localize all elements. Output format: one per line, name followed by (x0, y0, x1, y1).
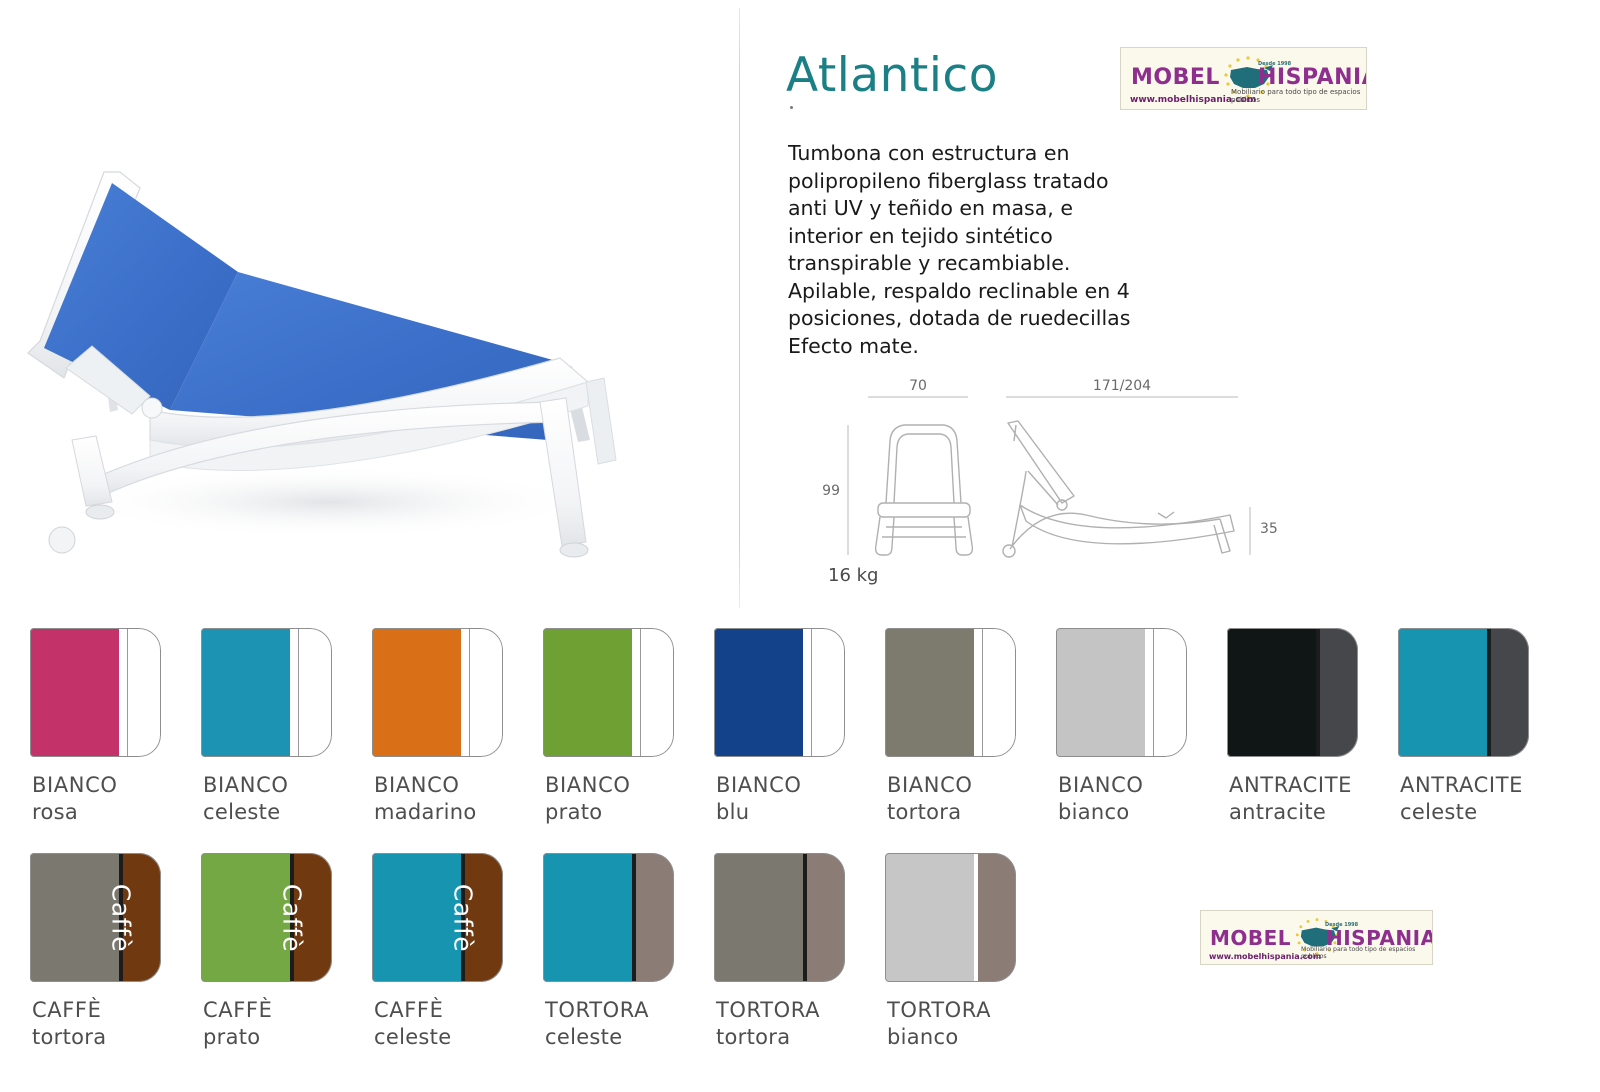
swatch-antracite-celeste[interactable]: ANTRACITEceleste (1398, 628, 1558, 826)
swatch-frame-edge-line (982, 628, 983, 757)
swatch-frame-edge-line (298, 628, 299, 757)
swatch-separator (290, 628, 294, 757)
swatch-bianco-rosa[interactable]: BIANCOrosa (30, 628, 190, 826)
swatch-fabric-name: bianco (887, 1024, 1045, 1051)
swatch-chip[interactable] (543, 628, 674, 757)
swatch-chip[interactable] (714, 628, 845, 757)
swatch-caff-tortora[interactable]: CaffèCAFFÈtortora (30, 853, 190, 1051)
swatch-fabric-name: celeste (374, 1024, 532, 1051)
weight-label: 16 kg (828, 565, 878, 586)
swatch-separator (632, 853, 636, 982)
swatch-fabric-area (1398, 628, 1487, 757)
swatch-fabric-area (543, 853, 632, 982)
swatch-fabric-name: celeste (203, 799, 361, 826)
swatch-chip[interactable] (543, 853, 674, 982)
swatch-fabric-area (1056, 628, 1145, 757)
swatch-row-1: BIANCOrosaBIANCOcelesteBIANCOmadarinoBIA… (0, 620, 1600, 845)
swatch-chip[interactable] (30, 628, 161, 757)
swatch-chip[interactable] (1398, 628, 1529, 757)
swatch-frame-edge-line (469, 628, 470, 757)
swatch-frame-name: TORTORA (887, 997, 1045, 1024)
swatch-fabric-name: prato (203, 1024, 361, 1051)
swatch-fabric-name: blu (716, 799, 874, 826)
swatch-chip[interactable] (714, 853, 845, 982)
swatch-fabric-name: celeste (1400, 799, 1558, 826)
swatch-row-2: CaffèCAFFÈtortoraCaffèCAFFÈpratoCaffèCAF… (0, 845, 1600, 1070)
swatch-frame-area (1487, 628, 1529, 757)
dim-width-value: 70 (909, 378, 927, 394)
product-photo (0, 110, 680, 580)
swatch-fabric-name: tortora (32, 1024, 190, 1051)
swatch-bianco-bianco[interactable]: BIANCObianco (1056, 628, 1216, 826)
dim-length-value: 171/204 (1093, 378, 1151, 394)
swatch-label: BIANCOtortora (885, 772, 1045, 826)
swatch-caffe-badge: Caffè (277, 883, 306, 951)
swatch-frame-edge-line (127, 628, 128, 757)
swatch-label: BIANCObianco (1056, 772, 1216, 826)
swatch-chip[interactable] (885, 853, 1016, 982)
swatch-chip[interactable]: Caffè (201, 853, 332, 982)
swatch-frame-name: BIANCO (374, 772, 532, 799)
swatch-chip[interactable] (1056, 628, 1187, 757)
swatch-chip[interactable] (372, 628, 503, 757)
swatch-bianco-tortora[interactable]: BIANCOtortora (885, 628, 1045, 826)
swatch-fabric-area (1227, 628, 1316, 757)
swatch-fabric-area (714, 853, 803, 982)
swatch-caffe-badge: Caffè (448, 883, 477, 951)
swatch-frame-name: ANTRACITE (1400, 772, 1558, 799)
swatch-fabric-area (714, 628, 803, 757)
swatch-bianco-prato[interactable]: BIANCOprato (543, 628, 703, 826)
swatch-separator (1145, 628, 1149, 757)
swatch-fabric-area (885, 853, 974, 982)
swatch-frame-name: CAFFÈ (32, 997, 190, 1024)
dim-seat-height-value: 35 (1260, 521, 1278, 537)
swatch-chip[interactable] (1227, 628, 1358, 757)
swatch-separator (803, 853, 807, 982)
swatch-tortora-celeste[interactable]: TORTORAceleste (543, 853, 703, 1051)
swatch-frame-area (632, 628, 674, 757)
swatch-fabric-name: madarino (374, 799, 532, 826)
swatch-separator (803, 628, 807, 757)
swatch-label: ANTRACITEantracite (1227, 772, 1387, 826)
swatch-fabric-area (30, 628, 119, 757)
swatch-label: CAFFÈceleste (372, 997, 532, 1051)
swatch-bianco-madarino[interactable]: BIANCOmadarino (372, 628, 532, 826)
swatch-frame-name: CAFFÈ (203, 997, 361, 1024)
logo-brand-left: MOBEL (1131, 65, 1220, 90)
swatch-fabric-area (543, 628, 632, 757)
swatch-frame-area (1145, 628, 1187, 757)
swatch-fabric-name: bianco (1058, 799, 1216, 826)
swatch-frame-name: ANTRACITE (1229, 772, 1387, 799)
swatch-frame-area (290, 628, 332, 757)
swatch-frame-name: BIANCO (887, 772, 1045, 799)
swatch-frame-area (1316, 628, 1358, 757)
logo-brand-right: HISPANIA (1258, 65, 1367, 90)
swatch-frame-edge-line (1153, 628, 1154, 757)
column-divider (739, 8, 740, 608)
product-description: Tumbona con estructura en polipropileno … (788, 140, 1136, 360)
swatch-frame-name: BIANCO (716, 772, 874, 799)
swatch-label: CAFFÈprato (201, 997, 361, 1051)
swatch-frame-edge-line (640, 628, 641, 757)
swatch-chip[interactable] (201, 628, 332, 757)
swatch-separator (974, 628, 978, 757)
swatch-fabric-name: celeste (545, 1024, 703, 1051)
swatch-label: TORTORAbianco (885, 997, 1045, 1051)
swatch-label: TORTORAceleste (543, 997, 703, 1051)
title-dot (790, 106, 793, 109)
swatch-frame-name: BIANCO (1058, 772, 1216, 799)
swatch-frame-edge-line (811, 628, 812, 757)
swatch-fabric-name: tortora (716, 1024, 874, 1051)
swatch-frame-area (803, 853, 845, 982)
swatch-chip[interactable]: Caffè (30, 853, 161, 982)
swatch-fabric-name: tortora (887, 799, 1045, 826)
swatch-label: BIANCOrosa (30, 772, 190, 826)
swatch-label: BIANCOprato (543, 772, 703, 826)
swatch-chip[interactable]: Caffè (372, 853, 503, 982)
swatch-label: BIANCOblu (714, 772, 874, 826)
swatch-separator (1316, 628, 1320, 757)
swatch-separator (461, 628, 465, 757)
swatch-separator (632, 628, 636, 757)
swatch-fabric-name: rosa (32, 799, 190, 826)
swatch-frame-area (632, 853, 674, 982)
swatch-bianco-blu[interactable]: BIANCOblu (714, 628, 874, 826)
swatch-caffe-badge: Caffè (106, 883, 135, 951)
swatch-bianco-celeste[interactable]: BIANCOceleste (201, 628, 361, 826)
dimension-diagram: 70 171/204 99 35 (790, 355, 1280, 595)
dim-height-value: 99 (822, 483, 840, 499)
swatch-frame-name: CAFFÈ (374, 997, 532, 1024)
page-title: Atlantico (786, 52, 998, 99)
swatch-antracite-antracite[interactable]: ANTRACITEantracite (1227, 628, 1387, 826)
swatch-frame-name: TORTORA (545, 997, 703, 1024)
mobel-hispania-logo-top: MOBEL Desde 1998 HISPANIA www.mobelhispa… (1120, 47, 1367, 110)
swatch-caff-prato[interactable]: CaffèCAFFÈprato (201, 853, 361, 1051)
swatch-frame-name: TORTORA (716, 997, 874, 1024)
catalog-page: Atlantico Tumbona con estructura en poli… (0, 0, 1600, 1092)
swatch-fabric-name: prato (545, 799, 703, 826)
swatch-frame-area (119, 628, 161, 757)
swatch-tortora-bianco[interactable]: TORTORAbianco (885, 853, 1045, 1051)
swatch-tortora-tortora[interactable]: TORTORAtortora (714, 853, 874, 1051)
color-swatch-grid: BIANCOrosaBIANCOcelesteBIANCOmadarinoBIA… (0, 620, 1600, 1070)
swatch-caff-celeste[interactable]: CaffèCAFFÈceleste (372, 853, 532, 1051)
swatch-frame-name: BIANCO (203, 772, 361, 799)
swatch-chip[interactable] (885, 628, 1016, 757)
swatch-fabric-area (372, 628, 461, 757)
swatch-fabric-area (201, 628, 290, 757)
swatch-separator (1487, 628, 1491, 757)
swatch-frame-name: BIANCO (545, 772, 703, 799)
swatch-fabric-name: antracite (1229, 799, 1387, 826)
swatch-fabric-area (885, 628, 974, 757)
swatch-frame-name: BIANCO (32, 772, 190, 799)
logo-tagline: Mobiliario para todo tipo de espacios pu… (1231, 88, 1366, 104)
swatch-frame-area (461, 628, 503, 757)
swatch-label: CAFFÈtortora (30, 997, 190, 1051)
swatch-label: ANTRACITEceleste (1398, 772, 1558, 826)
swatch-separator (119, 628, 123, 757)
swatch-separator (974, 853, 978, 982)
swatch-frame-area (974, 853, 1016, 982)
swatch-label: TORTORAtortora (714, 997, 874, 1051)
swatch-frame-area (974, 628, 1016, 757)
swatch-frame-area (803, 628, 845, 757)
swatch-label: BIANCOmadarino (372, 772, 532, 826)
swatch-label: BIANCOceleste (201, 772, 361, 826)
